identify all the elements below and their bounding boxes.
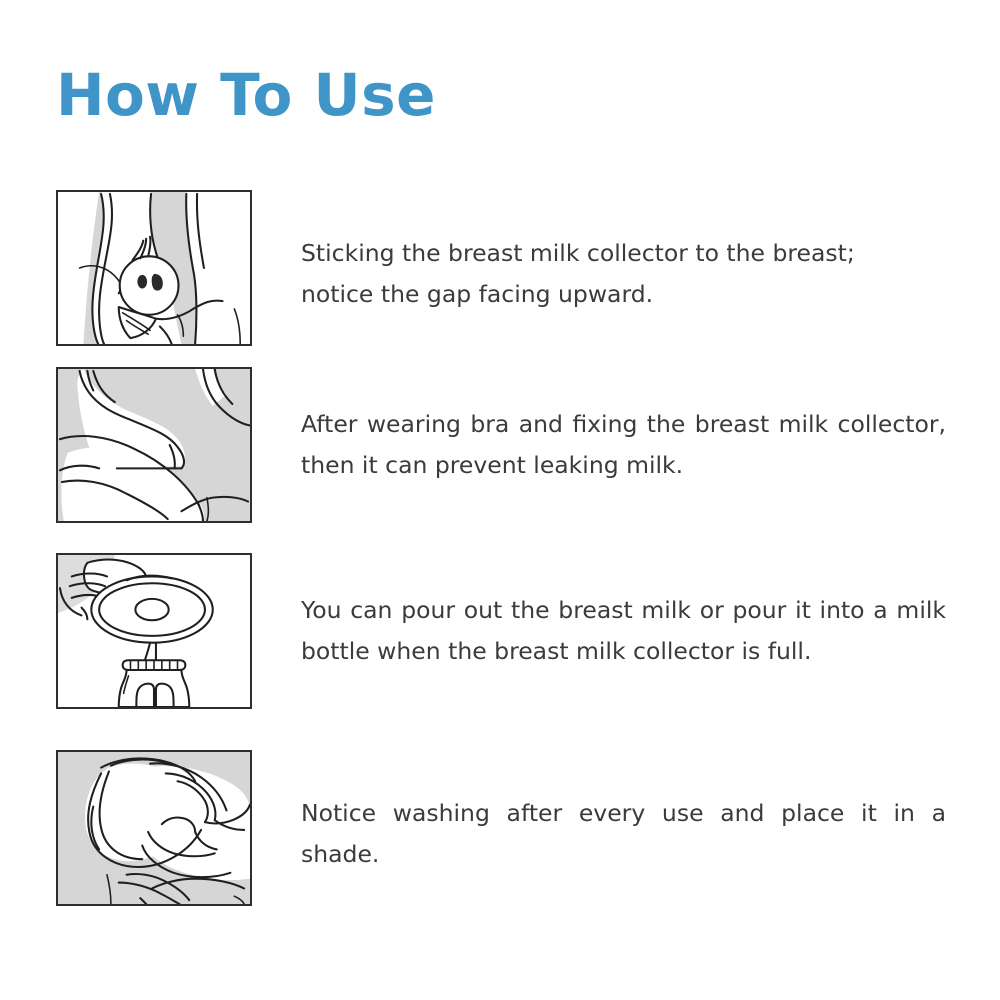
step-3-caption: You can pour out the breast milk or pour… — [301, 590, 946, 672]
step-2-illustration-bra-worn-over-milk-collector — [56, 367, 252, 523]
step-4-illustration-washing-collector-by-hand — [56, 750, 252, 906]
page-title: How To Use — [56, 62, 436, 128]
step-1-illustration-breast-milk-collector-attached-to-breast — [56, 190, 252, 346]
step-2-caption: After wearing bra and fixing the breast … — [301, 404, 946, 486]
how-to-use-instruction-sheet: How To Use — [0, 0, 1000, 1000]
step-3-illustration-pouring-milk-from-collector-into-bottle — [56, 553, 252, 709]
step-4-caption: Notice washing after every use and place… — [301, 793, 946, 875]
step-1-caption: Sticking the breast milk collector to th… — [301, 233, 901, 315]
